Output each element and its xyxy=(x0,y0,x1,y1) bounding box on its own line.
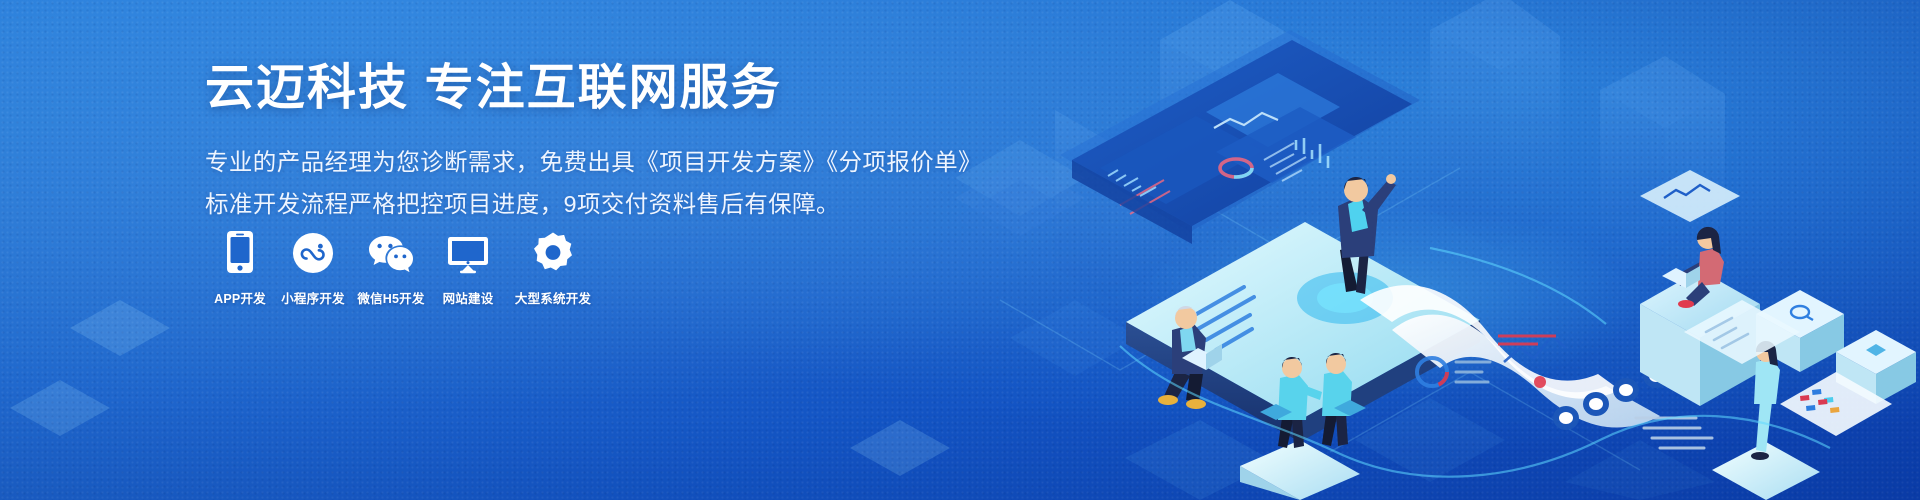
service-list: APP开发 小程序开发 xyxy=(205,228,601,307)
service-item-wechat-h5[interactable]: 微信H5开发 xyxy=(351,228,431,307)
banner-text-block: 云迈科技 专注互联网服务 专业的产品经理为您诊断需求，免费出具《项目开发方案》《… xyxy=(205,62,925,224)
service-item-app[interactable]: APP开发 xyxy=(205,228,275,307)
service-item-website[interactable]: 网站建设 xyxy=(431,228,505,307)
gear-icon xyxy=(530,228,576,274)
service-item-large-system[interactable]: 大型系统开发 xyxy=(505,228,601,307)
service-label: 微信H5开发 xyxy=(357,288,424,307)
page-title: 云迈科技 专注互联网服务 xyxy=(205,62,925,116)
mini-program-icon xyxy=(290,228,336,274)
monitor-icon xyxy=(445,228,491,274)
service-item-mini-program[interactable]: 小程序开发 xyxy=(275,228,351,307)
woman-on-pedestal xyxy=(1640,170,1760,406)
isometric-illustration xyxy=(1000,0,1920,500)
wechat-icon xyxy=(368,228,414,274)
service-label: APP开发 xyxy=(214,288,266,307)
service-label: 大型系统开发 xyxy=(515,288,591,307)
mobile-phone-icon xyxy=(217,228,263,274)
service-label: 网站建设 xyxy=(443,288,494,307)
hero-banner: 云迈科技 专注互联网服务 专业的产品经理为您诊断需求，免费出具《项目开发方案》《… xyxy=(0,0,1920,500)
subtitle-line-2: 标准开发流程严格把控项目进度，9项交付资料售后有保障。 xyxy=(205,184,925,224)
subtitle-line-1: 专业的产品经理为您诊断需求，免费出具《项目开发方案》《分项报价单》 xyxy=(205,142,925,182)
service-label: 小程序开发 xyxy=(281,288,345,307)
